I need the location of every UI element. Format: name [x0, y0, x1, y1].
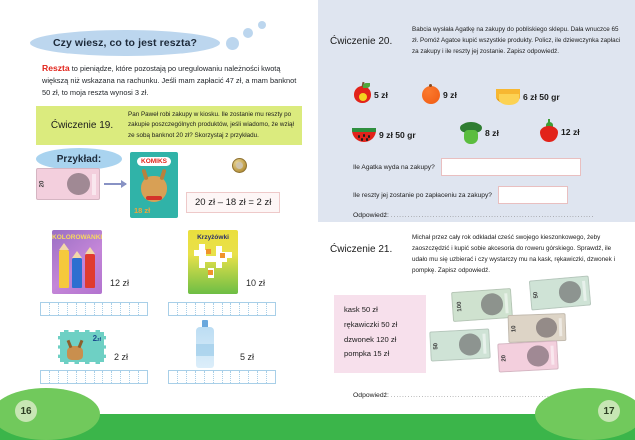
workbook-spread: Czy wiesz, co to jest reszta? Reszta to …: [0, 0, 635, 440]
bubble-dot-icon: [243, 28, 253, 38]
price-item: dzwonek 120 zł: [344, 333, 416, 348]
woda-price: 5 zł: [240, 352, 254, 362]
banknote-strip-icon: [92, 174, 96, 195]
answer-input-2[interactable]: [498, 186, 568, 204]
right-page: Ćwiczenie 20. Babcia wysłała Agatkę na z…: [318, 0, 635, 440]
page-number-right: 17: [598, 400, 620, 422]
coin-2zl-icon: [232, 158, 247, 173]
exercise-21-label: Ćwiczenie 21.: [330, 232, 412, 255]
arrow-right-icon: [104, 183, 126, 185]
exercise-20-text: Babcia wysłała Agatkę na zakupy do pobli…: [412, 24, 626, 57]
exercise-19-text: Pan Paweł robi zakupy w kiosku. Ile zost…: [128, 110, 302, 141]
watermelon-icon: [352, 128, 376, 142]
banknote-20zl: 20: [36, 168, 100, 200]
strawberry-icon: [540, 122, 558, 142]
food-item-broccoli: 8 zł: [460, 122, 499, 144]
banana-price: 6 zł 50 gr: [523, 92, 560, 102]
orange-price: 9 zł: [443, 90, 457, 100]
banknote-strip-icon: [504, 293, 509, 313]
example-equation: 20 zł – 18 zł = 2 zł: [186, 192, 280, 213]
exercise-21-block: Ćwiczenie 21. Michał przez cały rok odkł…: [330, 232, 620, 276]
banknote-denomination: 10: [511, 325, 517, 332]
food-item-strawberry: 12 zł: [540, 122, 580, 142]
banknote-portrait-icon: [458, 333, 481, 355]
banknote-strip-icon: [482, 334, 486, 354]
exercise-21-text: Michał przez cały rok odkładał cześć swo…: [412, 232, 620, 276]
price-item: kask 50 zł: [344, 303, 416, 318]
pencil-icon: [85, 254, 95, 288]
banknote-portrait-icon: [536, 317, 558, 337]
page-title: Czy wiesz, co to jest reszta?: [53, 37, 197, 49]
banknote-portrait-icon: [67, 173, 91, 196]
exercise-21-answer-label: Odpowiedź:: [353, 392, 389, 399]
exercise-20-answer-dots: ........................................…: [391, 212, 593, 219]
banknote-denomination: 50: [433, 343, 439, 350]
title-bubble-group: Czy wiesz, co to jest reszta?: [30, 22, 300, 56]
definition-paragraph: Reszta to pieniądze, które pozostają po …: [42, 62, 298, 98]
answer-grid-kolorowanki[interactable]: [40, 302, 148, 316]
food-item-watermelon: 9 zł 50 gr: [352, 128, 416, 142]
postage-stamp-icon: 2zł: [58, 330, 106, 364]
food-item-banana: 6 zł 50 gr: [496, 88, 560, 106]
banknote-portrait-icon: [526, 345, 549, 367]
strawberry-price: 12 zł: [561, 127, 580, 137]
banknote-denomination: 50: [533, 291, 540, 298]
pencil-icon: [72, 258, 82, 288]
dog-collar-icon: [146, 196, 162, 200]
definition-keyword: Reszta: [42, 63, 70, 73]
banknote-portrait-icon: [558, 281, 582, 304]
exercise-20-block: Ćwiczenie 20. Babcia wysłała Agatkę na z…: [330, 24, 626, 57]
exercise-20-answer-label: Odpowiedź:: [353, 212, 389, 219]
crossword-highlight-icon: [206, 249, 211, 254]
banknote-strip-icon: [559, 318, 563, 336]
watermelon-price: 9 zł 50 gr: [379, 130, 416, 140]
banknote-20zl: 20: [497, 340, 558, 372]
food-item-apple: 5 zł: [354, 86, 388, 103]
banknote-10zl: 10: [508, 313, 567, 343]
comic-title: KOMIKS: [137, 157, 171, 166]
broccoli-icon: [460, 122, 482, 144]
deer-icon: [67, 346, 83, 360]
banknote-strip-icon: [550, 346, 554, 365]
orange-icon: [422, 86, 440, 104]
kolorowanki-cover-title: KOLOROWANKI: [52, 234, 102, 241]
bottle-label-icon: [196, 344, 214, 356]
price-item: pompka 15 zł: [344, 347, 416, 362]
price-item: rękawiczki 50 zł: [344, 318, 416, 333]
banknote-strip-icon: [582, 281, 587, 301]
exercise-20-answer-line[interactable]: Odpowiedź: .............................…: [353, 212, 593, 219]
exercise-20-label: Ćwiczenie 20.: [330, 24, 412, 47]
banknote-50zl: 50: [529, 275, 591, 310]
crossword-highlight-icon: [208, 270, 213, 275]
bubble-dot-icon: [226, 37, 239, 50]
banana-icon: [496, 88, 520, 106]
definition-text: to pieniądze, które pozostają po uregulo…: [42, 64, 296, 97]
banknote-portrait-icon: [480, 293, 503, 316]
znaczek-price: 2 zł: [114, 352, 128, 362]
banknote-50zl: 50: [429, 328, 490, 361]
exercise-19-block: Ćwiczenie 19. Pan Paweł robi zakupy w ki…: [36, 106, 302, 145]
krzyzowki-cover-title: Krzyżówki: [188, 234, 238, 241]
left-page: Czy wiesz, co to jest reszta? Reszta to …: [0, 0, 318, 440]
example-label-bubble: Przykład:: [36, 148, 122, 170]
broccoli-price: 8 zł: [485, 128, 499, 138]
bubble-dot-icon: [258, 21, 266, 29]
question-row-2: Ile reszty jej zostanie po zapłaceniu za…: [353, 186, 568, 204]
answer-grid-woda[interactable]: [168, 370, 276, 384]
question-1-label: Ile Agatka wyda na zakupy?: [353, 164, 435, 171]
answer-grid-krzyzowki[interactable]: [168, 302, 276, 316]
comic-price: 18 zł: [134, 206, 150, 215]
kolorowanki-cover: KOLOROWANKI: [52, 230, 102, 294]
pencil-icon: [59, 250, 69, 288]
answer-input-1[interactable]: [441, 158, 581, 176]
water-bottle-icon: [196, 320, 214, 368]
product-comic-book: KOMIKS 18 zł: [130, 152, 178, 218]
right-footer-accent: [535, 388, 635, 440]
page-number-left: 16: [15, 400, 37, 422]
banknote-denomination: 100: [457, 301, 464, 311]
crossword-highlight-icon: [220, 253, 225, 258]
example-label: Przykład:: [57, 154, 101, 165]
banknote-denomination: 20: [501, 354, 507, 361]
apple-price: 5 zł: [374, 90, 388, 100]
question-2-label: Ile reszty jej zostanie po zapłaceniu za…: [353, 192, 492, 199]
kolorowanki-price: 12 zł: [110, 278, 129, 288]
krzyzowki-cover: Krzyżówki: [188, 230, 238, 294]
exercise-19-label: Ćwiczenie 19.: [36, 120, 128, 131]
apple-icon: [354, 86, 371, 103]
page-title-bubble: Czy wiesz, co to jest reszta?: [30, 30, 220, 56]
banknote-denomination: 20: [39, 181, 45, 188]
krzyzowki-price: 10 zł: [246, 278, 265, 288]
answer-grid-znaczek[interactable]: [40, 370, 148, 384]
exercise-21-price-list: kask 50 zł rękawiczki 50 zł dzwonek 120 …: [334, 295, 426, 373]
banknote-100zl: 100: [451, 288, 513, 322]
question-row-1: Ile Agatka wyda na zakupy?: [353, 158, 581, 176]
stamp-value: 2zł: [93, 334, 101, 343]
food-item-orange: 9 zł: [422, 86, 457, 104]
